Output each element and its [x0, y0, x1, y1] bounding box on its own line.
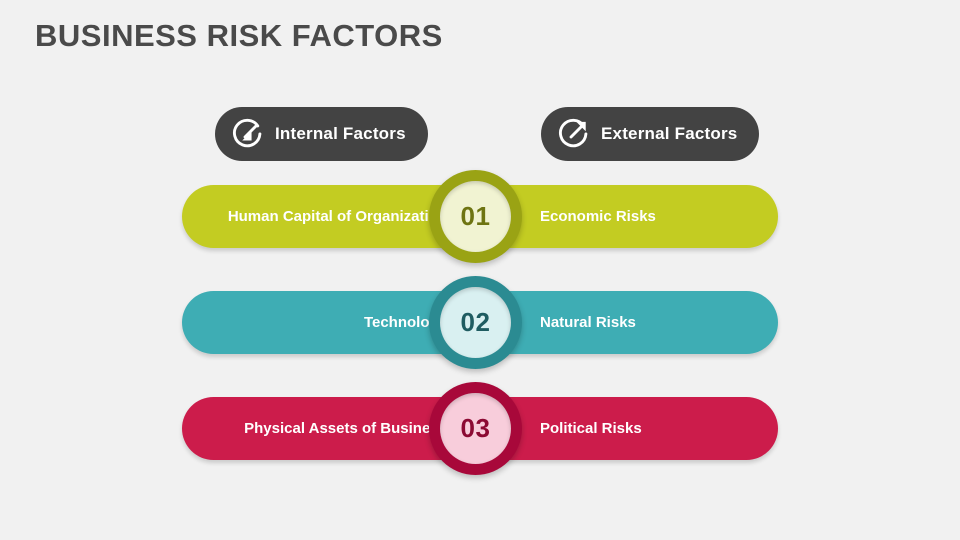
external-factor-label: Political Risks — [540, 419, 760, 439]
external-factor-label: Economic Risks — [540, 207, 760, 227]
risk-row[interactable]: Technology Natural Risks 02 — [182, 291, 778, 354]
step-number-badge[interactable]: 02 — [429, 276, 522, 369]
header-pill-external-factors[interactable]: External Factors — [541, 107, 759, 161]
page-title: BUSINESS RISK FACTORS — [35, 18, 443, 54]
header-pill-label: Internal Factors — [275, 124, 406, 144]
risk-row[interactable]: Physical Assets of Business Political Ri… — [182, 397, 778, 460]
step-number-badge-inner: 02 — [440, 287, 511, 358]
arrow-into-circle-icon — [231, 117, 265, 151]
internal-factor-label: Human Capital of Organization — [212, 207, 447, 227]
internal-factor-label: Technology — [212, 313, 447, 333]
external-factor-label: Natural Risks — [540, 313, 760, 333]
header-pill-internal-factors[interactable]: Internal Factors — [215, 107, 428, 161]
step-number-badge-inner: 03 — [440, 393, 511, 464]
risk-row[interactable]: Human Capital of Organization Economic R… — [182, 185, 778, 248]
internal-factor-label: Physical Assets of Business — [212, 419, 447, 439]
header-pill-label: External Factors — [601, 124, 737, 144]
step-number-badge[interactable]: 03 — [429, 382, 522, 475]
step-number-badge-inner: 01 — [440, 181, 511, 252]
arrow-out-of-circle-icon — [557, 117, 591, 151]
step-number-badge[interactable]: 01 — [429, 170, 522, 263]
step-number: 02 — [461, 307, 491, 338]
step-number: 03 — [461, 413, 491, 444]
step-number: 01 — [461, 201, 491, 232]
